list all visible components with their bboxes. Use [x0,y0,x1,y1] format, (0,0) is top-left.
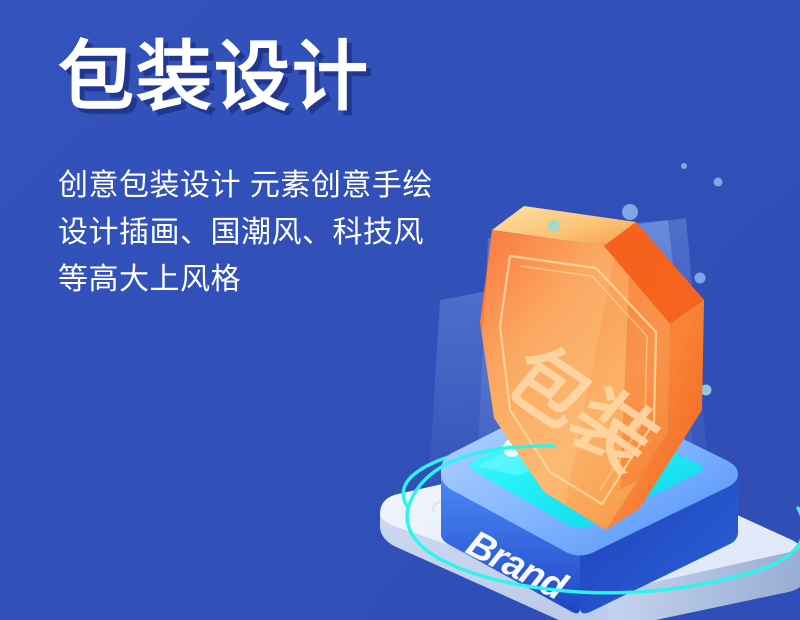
subtitle-line-3: 等高大上风格 [58,256,528,303]
subtitle-line-1: 创意包装设计 元素创意手绘 [58,162,528,209]
dot [622,204,638,220]
subtitle-line-2: 设计插画、国潮风、科技风 [58,209,528,256]
dot [714,178,723,187]
banner-root: 包装设计 创意包装设计 元素创意手绘 设计插画、国潮风、科技风 等高大上风格 [0,0,800,620]
text-block: 包装设计 创意包装设计 元素创意手绘 设计插画、国潮风、科技风 等高大上风格 [58,40,528,303]
dot [681,163,687,169]
dot [695,273,706,284]
subtitle-group: 创意包装设计 元素创意手绘 设计插画、国潮风、科技风 等高大上风格 [58,116,528,303]
dot [548,220,560,232]
page-title: 包装设计 [58,40,528,116]
